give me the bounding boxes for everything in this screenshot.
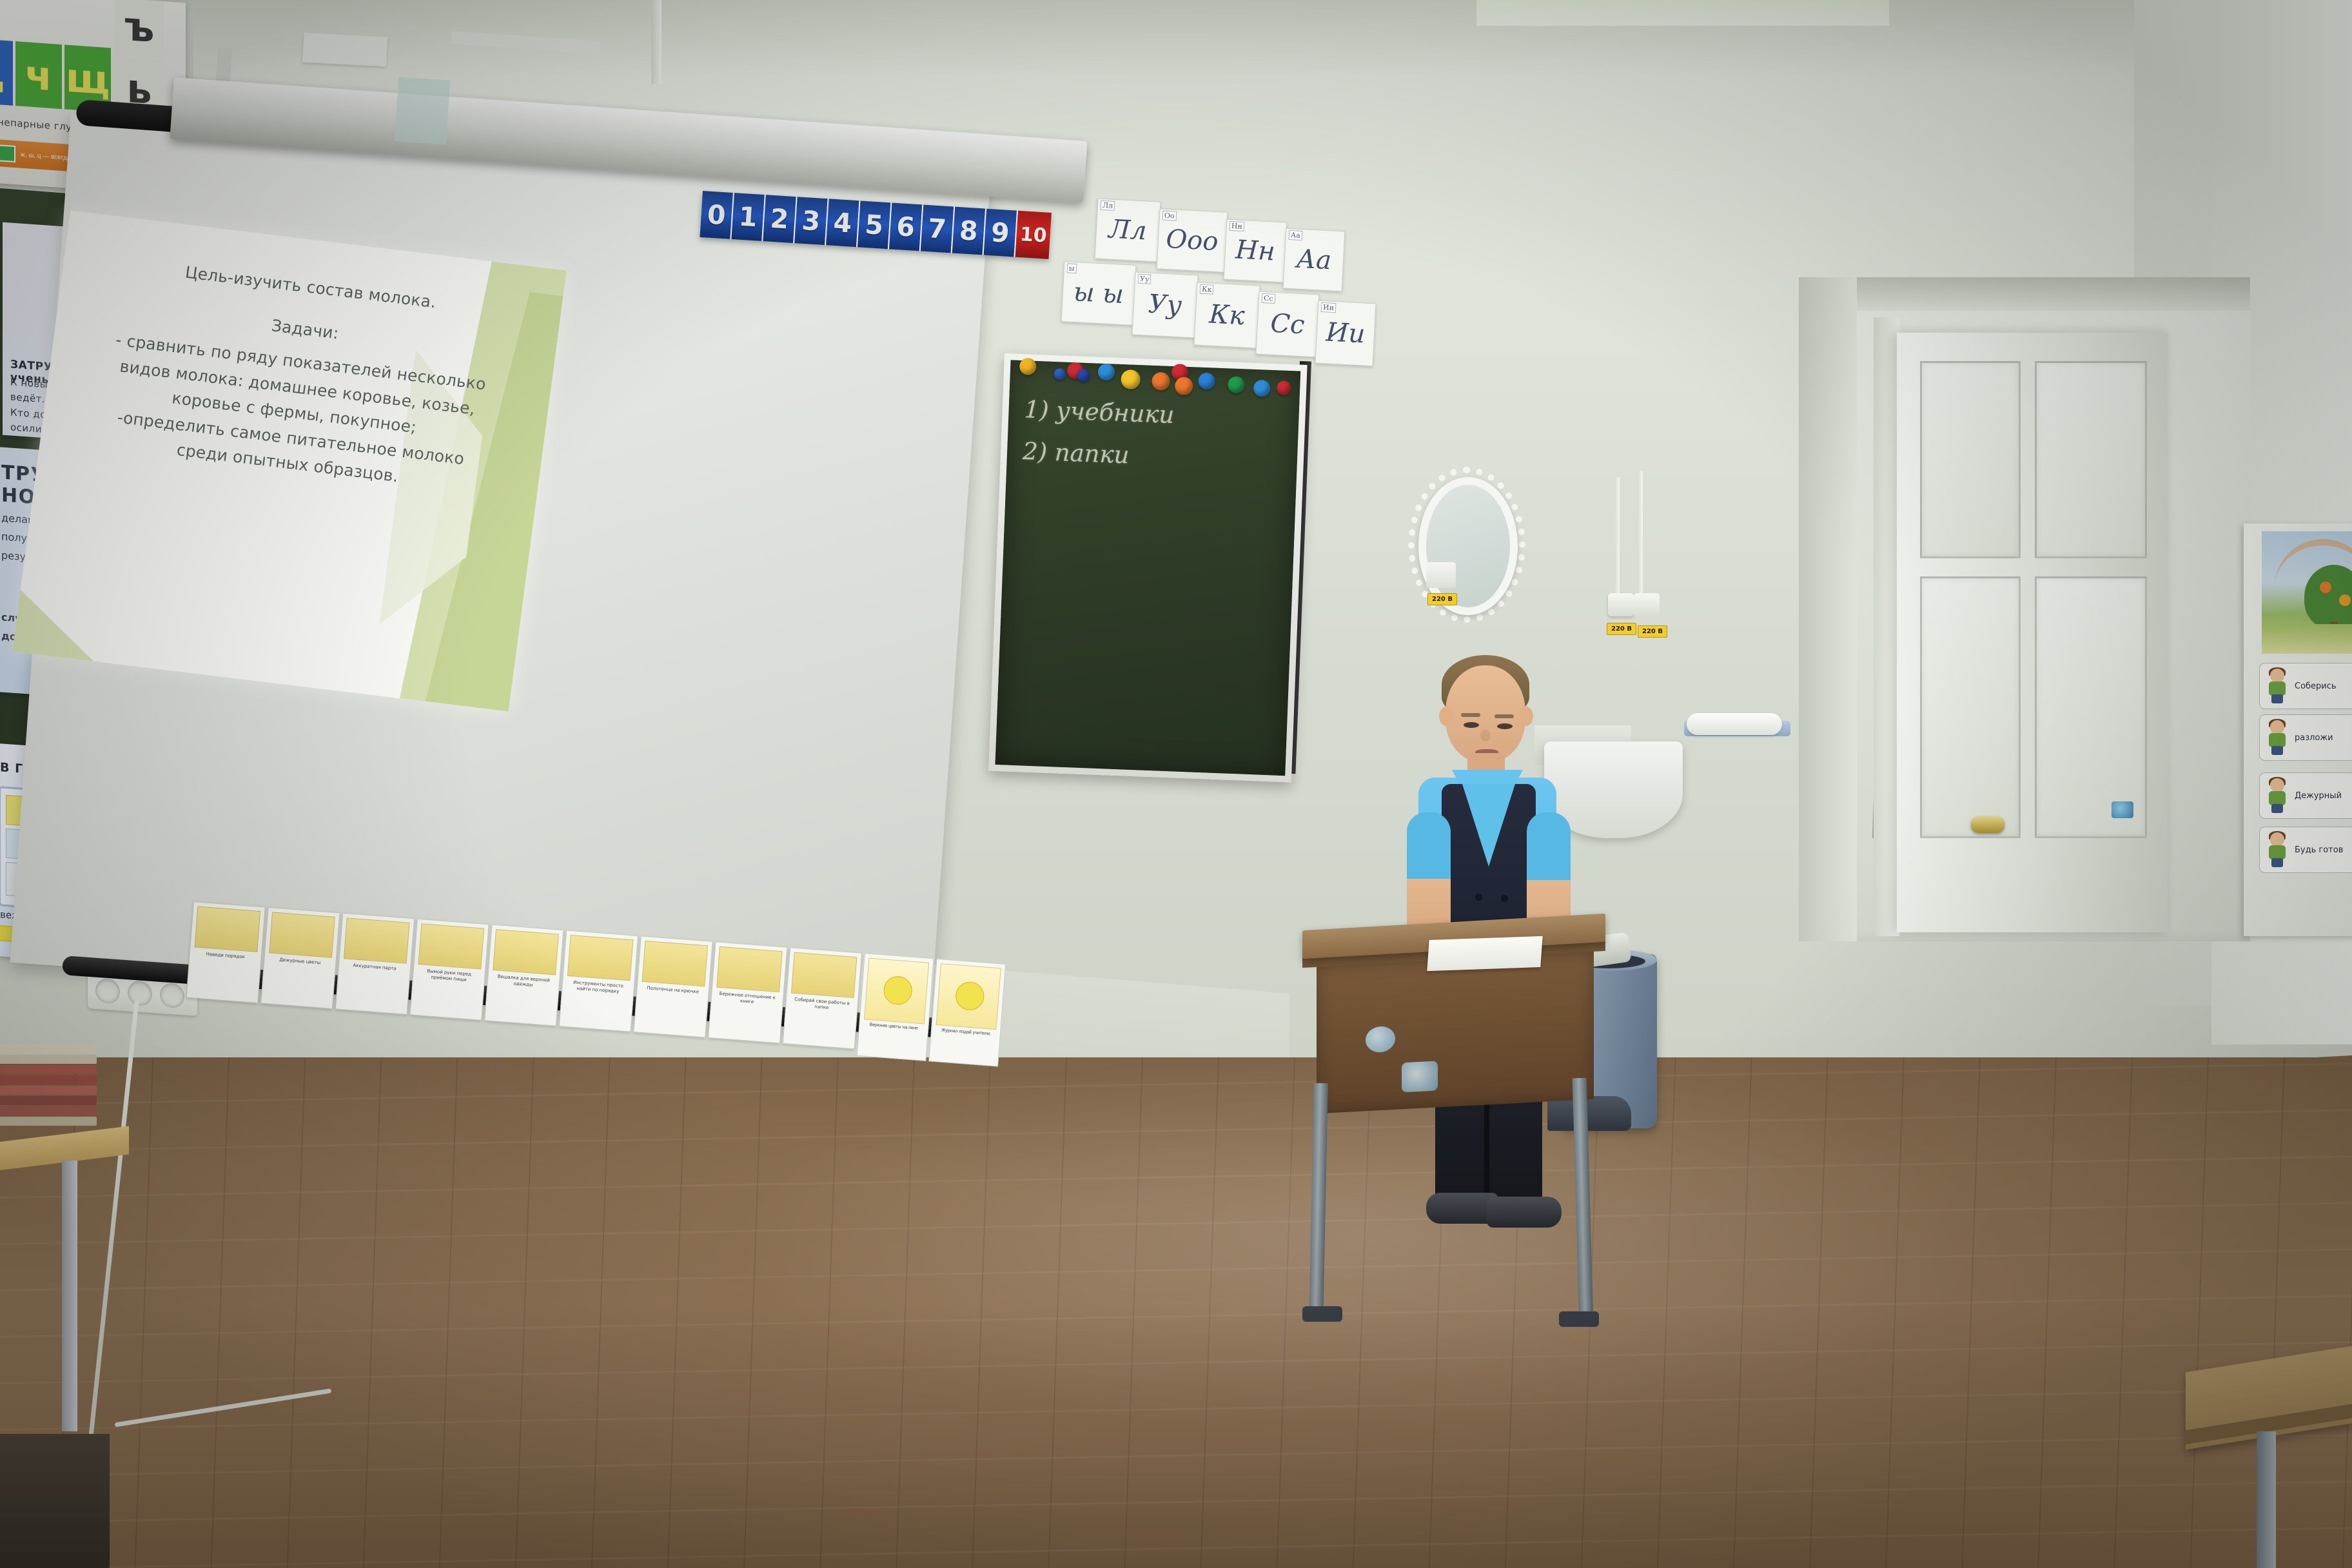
- number-cell-8: 8: [952, 207, 986, 255]
- ceiling-pipe: [651, 0, 661, 84]
- strip-card-5: Инструменты просто найти по порядку: [559, 930, 638, 1032]
- poster-right-row-3-label: Будь готов: [2295, 845, 2343, 855]
- chick-icon-b: [955, 981, 985, 1011]
- wall-socket-b[interactable]: [1634, 593, 1660, 616]
- socket-a-voltage-label: 220 В: [1607, 623, 1636, 635]
- magnet-6[interactable]: [1151, 372, 1170, 391]
- boy-brow-left: [1461, 713, 1480, 717]
- chick-icon-a: [883, 975, 913, 1006]
- door-panel-bottom-left: [1920, 576, 2021, 838]
- poster-right-illustration: [2262, 531, 2352, 654]
- magnet-4[interactable]: [1098, 364, 1115, 381]
- conduit-a: [1616, 477, 1620, 594]
- alpha-card-l-glyph: Лл: [1108, 214, 1147, 246]
- strip-card-8-picture: [791, 952, 857, 998]
- number-cell-9: 9: [984, 209, 1018, 257]
- strip-card-1-caption: Дежурные цветы: [279, 957, 321, 966]
- alpha-card-k: Кк Кк: [1194, 282, 1260, 349]
- magnet-9[interactable]: [1198, 373, 1215, 390]
- vest-button-1: [1475, 894, 1482, 901]
- magnet-5[interactable]: [1121, 369, 1141, 389]
- cursive-alphabet-card-wall: Лл Лл Оо Ооо Нн Нн Аа Аа ы ы ы Уу Уу Кк …: [1096, 193, 1457, 361]
- alcove-top-face: [1799, 277, 2250, 311]
- vest-button-2: [1501, 895, 1508, 902]
- slide-decor-shape-d: [12, 536, 117, 669]
- door-panel-bottom-right: [2035, 576, 2147, 838]
- strip-card-9: Верхние цветы на окне: [857, 953, 934, 1061]
- door-panel-top-left: [1920, 361, 2021, 558]
- door-handle[interactable]: [1971, 816, 2004, 833]
- floor-sheen: [0, 1057, 2352, 1568]
- classroom-door[interactable]: [1897, 333, 2168, 932]
- wall-teal-patch: [395, 77, 451, 144]
- alpha-tile-0: ц: [0, 38, 13, 106]
- alpha-card-u: Уу Уу: [1132, 272, 1199, 338]
- projected-slide: Цель-изучить состав молока. Задачи: - ср…: [12, 210, 566, 711]
- alpha-card-i: Ии Ии: [1315, 300, 1376, 367]
- wall-socket-a[interactable]: [1608, 593, 1634, 616]
- alpha-card-i-tag: Ии: [1321, 302, 1337, 313]
- boy-brow-right: [1494, 714, 1514, 718]
- alpha-tile-3: ъ: [115, 0, 164, 58]
- green-square-icon: [0, 144, 15, 162]
- alpha-card-u-tag: Уу: [1138, 274, 1151, 284]
- chalkboard-text: 1) учебники 2) папки: [1022, 389, 1283, 482]
- projection-screen-surface: Цель-изучить состав молока. Задачи: - ср…: [10, 113, 991, 1028]
- strip-card-5-caption: Инструменты просто найти по порядку: [565, 979, 631, 995]
- conduit-b: [1639, 471, 1643, 594]
- poster-right-row-2-label: Дежурный: [2295, 791, 2342, 801]
- strip-card-9-caption: Верхние цветы на окне: [869, 1023, 918, 1032]
- alpha-card-n-glyph: Нн: [1235, 235, 1276, 266]
- poster-right-figure-2: [2264, 778, 2291, 813]
- strip-card-2-caption: Аккуратная парта: [353, 963, 397, 972]
- boy-head: [1445, 665, 1525, 762]
- magnet-1[interactable]: [1053, 368, 1066, 380]
- strip-card-10: Журнал подай учителю: [928, 959, 1006, 1067]
- magnet-0[interactable]: [1019, 358, 1037, 375]
- strip-card-3-picture: [418, 923, 485, 969]
- number-cell-6: 6: [889, 202, 923, 251]
- poster-right-panel: Соберись разложи Дежурный Будь готов: [2244, 524, 2352, 936]
- alpha-card-o: Оо Ооо: [1157, 208, 1228, 272]
- alpha-card-k-glyph: Кк: [1208, 300, 1245, 331]
- alpha-card-i-glyph: Ии: [1326, 317, 1366, 349]
- foreground-table-leg: [2257, 1431, 2276, 1568]
- magnet-10[interactable]: [1228, 376, 1245, 393]
- strip-card-10-caption: Журнал подай учителю: [941, 1028, 990, 1037]
- number-cell-7: 7: [921, 205, 955, 253]
- boy-nose: [1480, 730, 1491, 741]
- poster-right-figure-3: [2264, 832, 2291, 867]
- strip-card-4: Вешалка для верхней одежды: [484, 925, 563, 1026]
- strip-card-1: Дежурные цветы: [260, 907, 340, 1009]
- alpha-card-a-tag: Аа: [1289, 230, 1303, 240]
- strip-card-6: Полотенце на крючке: [633, 936, 712, 1037]
- strip-card-3-caption: Вымой руки перед приёмом пищи: [416, 968, 482, 984]
- alpha-card-s-glyph: Сс: [1269, 309, 1305, 340]
- number-cell-10: 10: [1015, 211, 1052, 259]
- alcove-left-face: [1799, 277, 1857, 941]
- alpha-card-o-glyph: Ооо: [1165, 224, 1219, 257]
- strip-card-6-picture: [642, 941, 708, 986]
- boy-eye-right: [1497, 723, 1513, 729]
- alpha-card-n-tag: Нн: [1230, 221, 1245, 231]
- desk-leg-left: [1309, 1083, 1328, 1322]
- wall-card-above-screen: [302, 33, 387, 67]
- alpha-card-o-tag: Оо: [1162, 211, 1177, 221]
- alpha-card-a-glyph: Аа: [1296, 244, 1332, 276]
- number-cell-1: 1: [731, 193, 765, 241]
- desk-sticker-b: [1402, 1061, 1438, 1092]
- poster-right-row-0: Соберись: [2259, 663, 2352, 709]
- poster-right-row-1: разложи: [2259, 714, 2352, 761]
- poster-right-ground: [2262, 624, 2352, 654]
- poster-right-row-1-label: разложи: [2295, 733, 2333, 743]
- strip-card-0-caption: Наведи порядок: [206, 952, 245, 960]
- strip-card-5-picture: [567, 935, 634, 981]
- strip-card-2-picture: [344, 917, 410, 963]
- student-desk: [1302, 922, 1605, 1328]
- strip-card-7-picture: [716, 946, 783, 992]
- strip-card-8-caption: Собирай свои работы в папке: [789, 996, 855, 1012]
- desk-sticker-a: [1366, 1026, 1395, 1053]
- door-sticker: [2112, 801, 2133, 818]
- strip-card-2: Аккуратная парта: [335, 913, 415, 1015]
- strip-card-9-picture: [864, 958, 929, 1024]
- classroom-photo-scene: ц ч щ ъ ь непарные глухие ж, ш, ц — всег…: [0, 0, 2352, 1568]
- alpha-card-n: Нн Нн: [1224, 219, 1288, 283]
- alpha-card-y-glyph: ы ы: [1073, 277, 1124, 309]
- number-cell-4: 4: [826, 199, 860, 247]
- poster-right-figure-0: [2264, 669, 2291, 703]
- mirror-socket[interactable]: [1426, 562, 1456, 588]
- alpha-card-u-glyph: Уу: [1148, 289, 1182, 321]
- alpha-card-s-tag: Сс: [1262, 293, 1275, 304]
- poster-right-row-0-label: Соберись: [2295, 681, 2337, 691]
- strip-card-7: Бережное отношение к книге: [708, 941, 787, 1043]
- number-cell-5: 5: [857, 201, 892, 249]
- strip-card-6-caption: Полотенце на крючке: [647, 985, 699, 995]
- socket-b-voltage-label: 220 В: [1638, 625, 1667, 638]
- poster-right-figure-1: [2264, 720, 2291, 755]
- paper-towel-roll: [1687, 713, 1782, 735]
- foreground-left-shadow: [0, 1434, 110, 1568]
- strip-card-1-picture: [269, 912, 335, 957]
- alpha-card-a: Аа Аа: [1283, 228, 1346, 292]
- number-cell-2: 2: [763, 195, 797, 243]
- presentation-papers[interactable]: [1427, 936, 1542, 971]
- book-stack: [0, 1044, 97, 1141]
- door-jamb: [1874, 317, 1899, 936]
- ceiling-tint: [1476, 0, 1889, 26]
- poster-right-row-2: Дежурный: [2259, 772, 2352, 819]
- number-cell-3: 3: [794, 197, 828, 245]
- fruit-icon-b: [2339, 594, 2351, 606]
- strip-card-8: Собирай свои работы в папке: [783, 947, 862, 1049]
- desk-leg-right: [1573, 1078, 1594, 1323]
- desk-foot-right: [1559, 1311, 1599, 1327]
- strip-card-0-picture: [195, 906, 261, 952]
- alpha-tile-1: ч: [15, 41, 62, 109]
- poster-right-row-3: Будь готов: [2259, 827, 2352, 873]
- alpha-card-s: Сс Сс: [1256, 291, 1320, 358]
- chalkboard-frame: 1) учебники 2) папки: [988, 353, 1308, 783]
- magnet-8[interactable]: [1175, 377, 1193, 395]
- desk-front-panel: [1317, 951, 1594, 1114]
- strip-card-10-picture: [936, 963, 1001, 1030]
- strip-card-4-picture: [493, 929, 559, 975]
- side-table-leg: [62, 1161, 77, 1431]
- alpha-card-y-tag: ы: [1067, 263, 1077, 273]
- slide-text-block: Цель-изучить состав молока. Задачи: - ср…: [65, 248, 533, 503]
- boy-eye-left: [1464, 722, 1479, 728]
- magnet-3[interactable]: [1077, 369, 1090, 382]
- strip-card-7-caption: Бережное отношение к книге: [714, 990, 780, 1006]
- alpha-card-y: ы ы ы: [1061, 261, 1137, 326]
- number-cell-0: 0: [700, 191, 734, 239]
- magnet-12[interactable]: [1277, 380, 1291, 395]
- chalkboard: 1) учебники 2) папки: [995, 360, 1301, 776]
- strip-card-3: Вымой руки перед приёмом пищи: [409, 919, 489, 1021]
- door-panel-top-right: [2035, 361, 2147, 558]
- strip-card-0: Наведи порядок: [186, 901, 265, 1003]
- boy-ear-right: [1519, 707, 1533, 726]
- alpha-card-l-tag: Лл: [1101, 201, 1115, 211]
- desk-foot-left: [1302, 1306, 1342, 1322]
- alpha-card-l: Лл Лл: [1095, 198, 1161, 262]
- boy-ear-left: [1439, 707, 1453, 726]
- magnet-11[interactable]: [1253, 380, 1271, 397]
- mirror-socket-voltage-label: 220 В: [1427, 593, 1457, 605]
- alpha-card-k-tag: Кк: [1200, 284, 1214, 295]
- strip-card-4-caption: Вешалка для верхней одежды: [490, 974, 556, 990]
- fruit-icon-a: [2320, 582, 2331, 593]
